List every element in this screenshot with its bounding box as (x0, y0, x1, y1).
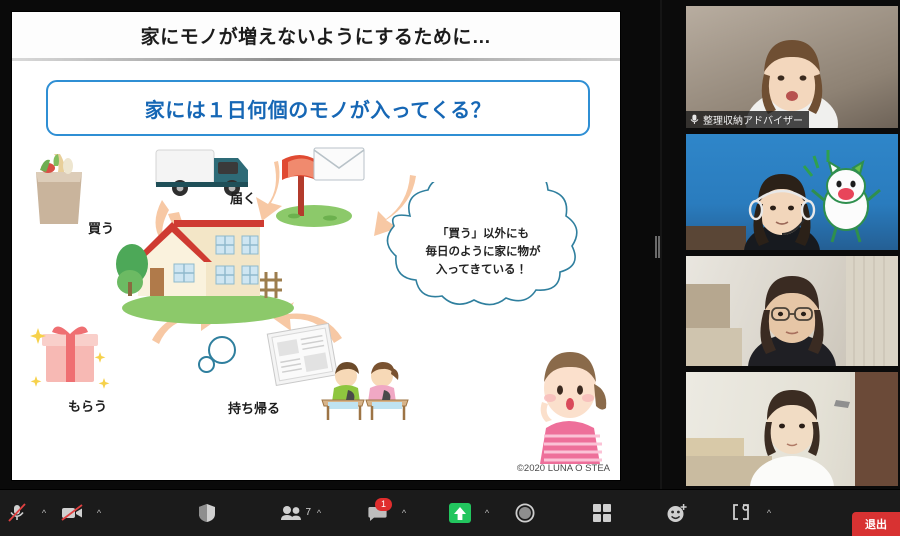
reactions-smiley-icon (666, 503, 688, 523)
thought-bubble-text: 「買う」以外にも 毎日のように家に物が 入ってきている ！ (364, 226, 602, 279)
leave-meeting-button[interactable]: 退出 (852, 512, 900, 536)
participant-count: 7 (305, 507, 311, 518)
chat-options-chevron[interactable]: ^ (398, 490, 410, 536)
video-options-chevron[interactable]: ^ (93, 490, 105, 536)
participants-options-chevron[interactable]: ^ (313, 490, 325, 536)
chat-unread-badge: 1 (375, 498, 392, 511)
bubble-line-1: 「買う」以外にも (364, 226, 602, 244)
thinking-girl-icon (528, 336, 618, 464)
meeting-toolbar: ^ ^ (0, 489, 900, 536)
participant-video-strip: 整理収納アドバイザー (662, 0, 900, 490)
gift-box-icon (28, 312, 114, 392)
video-off-icon (61, 504, 83, 522)
cat-mascot-icon (804, 150, 880, 242)
bubble-line-2: 毎日のように家に物が (364, 244, 602, 262)
toolbar-video-button[interactable] (55, 490, 89, 536)
panel-splitter-handle[interactable] (655, 236, 660, 258)
record-circle-icon (515, 503, 535, 523)
slide-diagram: 「買う」以外にも 毎日のように家に物が 入ってきている ！ 買う 届く もらう … (12, 140, 620, 470)
shared-screen-region[interactable]: 家にモノが増えないようにするために… 家には１日何個のモノが入ってくる？ (0, 0, 660, 490)
video-feed-2 (686, 134, 898, 250)
question-callout-box: 家には１日何個のモノが入ってくる？ (46, 80, 590, 136)
thought-bubble: 「買う」以外にも 毎日のように家に物が 入ってきている ！ (364, 182, 602, 332)
participant-avatar-3 (686, 256, 898, 366)
participant-avatar-1 (686, 6, 898, 128)
toolbar-share-screen-button[interactable] (443, 490, 477, 536)
toolbar-apps-button[interactable] (585, 490, 619, 536)
participant-name-1: 整理収納アドバイザー (703, 112, 803, 127)
shield-icon (198, 503, 216, 523)
mic-muted-icon (690, 114, 699, 125)
house-icon (116, 198, 296, 328)
participants-icon (280, 504, 304, 522)
label-deliver: 届く (230, 188, 256, 207)
breakout-rooms-icon (731, 503, 753, 523)
thought-bubble-tail-small (198, 356, 215, 373)
copyright-notice: ©2020 LUNA O STEA (517, 463, 610, 474)
leave-meeting-label: 退出 (865, 516, 887, 532)
toolbar-breakout-rooms-button[interactable] (725, 490, 759, 536)
toolbar-security-button[interactable] (190, 490, 224, 536)
toolbar-mute-button[interactable] (0, 490, 34, 536)
share-options-chevron[interactable]: ^ (481, 490, 493, 536)
toolbar-chat-button[interactable]: 1 (360, 490, 394, 536)
breakout-options-chevron[interactable]: ^ (763, 490, 775, 536)
label-receive: もらう (68, 396, 107, 415)
toolbar-record-button[interactable] (508, 490, 542, 536)
participant-avatar-2 (686, 134, 898, 250)
mic-muted-icon (7, 503, 27, 523)
video-tile-4[interactable] (686, 372, 898, 486)
toolbar-reactions-button[interactable] (660, 490, 694, 536)
participant-avatar-4 (686, 372, 898, 486)
video-tile-2[interactable] (686, 134, 898, 250)
video-tile-1[interactable]: 整理収納アドバイザー (686, 6, 898, 128)
video-feed-4 (686, 372, 898, 486)
apps-grid-icon (592, 503, 612, 523)
toolbar-participants-button[interactable]: 7 (275, 490, 309, 536)
envelope-icon (312, 144, 368, 184)
participant-name-bar-1: 整理収納アドバイザー (686, 111, 809, 128)
label-bring-home: 持ち帰る (228, 398, 280, 417)
zoom-meeting-window: 家にモノが増えないようにするために… 家には１日何個のモノが入ってくる？ (0, 0, 900, 536)
school-desk-kids-icon (318, 356, 414, 424)
bubble-line-3: 入ってきている ！ (364, 262, 602, 280)
video-feed-1 (686, 6, 898, 128)
presentation-slide: 家にモノが増えないようにするために… 家には１日何個のモノが入ってくる？ (12, 12, 620, 480)
share-screen-up-arrow-icon (447, 502, 473, 524)
mute-options-chevron[interactable]: ^ (38, 490, 50, 536)
slide-title: 家にモノが増えないようにするために… (141, 22, 492, 49)
slide-header: 家にモノが増えないようにするために… (12, 12, 620, 58)
grocery-bag-icon (26, 150, 92, 228)
video-feed-3 (686, 256, 898, 366)
question-text: 家には１日何個のモノが入ってくる？ (145, 94, 492, 123)
slide-divider-rule (12, 58, 620, 61)
video-tile-3[interactable] (686, 256, 898, 366)
label-buy: 買う (88, 218, 114, 237)
